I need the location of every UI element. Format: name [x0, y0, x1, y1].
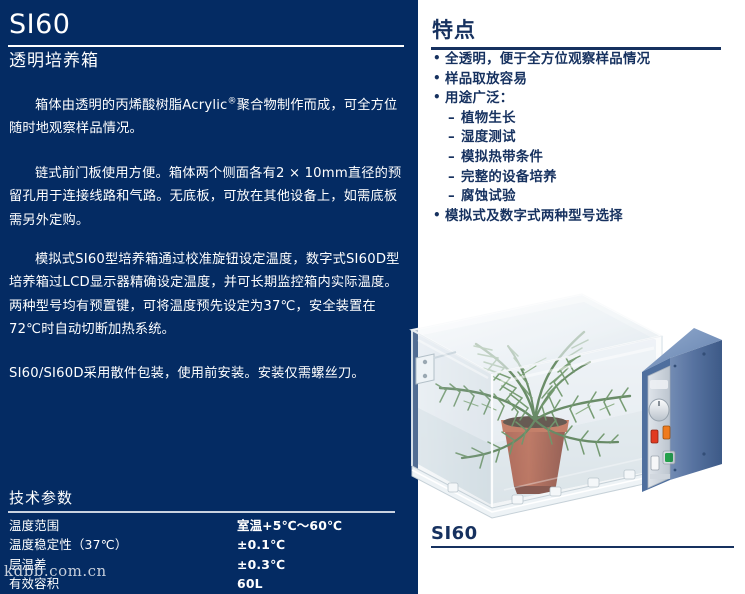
- list-item-label: 腐蚀试验: [461, 189, 516, 204]
- power-indicator-light: [663, 426, 670, 439]
- photo-caption: SI60: [431, 523, 478, 544]
- para1-lead: 箱体由透明的丙烯酸树脂Acrylic: [35, 98, 228, 113]
- product-photo-incubator: [404, 258, 740, 526]
- list-item: –完整的设备培养: [431, 168, 731, 188]
- list-item-label: 植物生长: [461, 111, 516, 126]
- product-title-rule: [8, 45, 404, 47]
- heat-indicator-light: [651, 430, 658, 443]
- description-paragraph-1: 箱体由透明的丙烯酸树脂Acrylic®聚合物制作而成，可全方位随时地观察样品情况…: [9, 94, 407, 141]
- spec-table: 温度范围 室温+5℃～60℃ 温度稳定性（37℃） ±0.1℃ 层温差 ±0.3…: [9, 516, 409, 594]
- spec-value: ±0.1℃: [237, 535, 409, 554]
- spec-value: 室温+5℃～60℃: [237, 516, 409, 535]
- spec-label: 有效容积: [9, 574, 237, 593]
- photo-caption-rule: [431, 546, 734, 548]
- power-rocker-switch[interactable]: [651, 456, 659, 470]
- list-item-label: 湿度测试: [461, 130, 516, 145]
- features-list: •全透明，便于全方位观察样品情况 •样品取放容易 •用途广泛： –植物生长 –湿…: [431, 50, 731, 226]
- spec-value: 60L: [237, 574, 409, 593]
- list-item: •全透明，便于全方位观察样品情况: [431, 50, 731, 70]
- product-title: SI60: [9, 10, 70, 40]
- page-root: SI60 透明培养箱 箱体由透明的丙烯酸树脂Acrylic®聚合物制作而成，可全…: [0, 0, 745, 594]
- list-item: –湿度测试: [431, 128, 731, 148]
- acrylic-chamber: [412, 294, 662, 518]
- list-item-label: 用途广泛：: [445, 91, 513, 106]
- list-item: •模拟式及数字式两种型号选择: [431, 207, 731, 227]
- bullet-icon: •: [433, 206, 441, 226]
- list-item: –模拟热带条件: [431, 148, 731, 168]
- brand-plate: [650, 380, 668, 389]
- list-item-label: 全透明，便于全方位观察样品情况: [445, 52, 650, 67]
- table-row: 有效容积 60L: [9, 574, 409, 593]
- description-paragraph-4: SI60/SI60D采用散件包装，使用前安装。安装仅需螺丝刀。: [9, 362, 407, 385]
- spec-label: 温度稳定性（37℃）: [9, 535, 237, 554]
- spec-label: 层温差: [9, 555, 237, 574]
- list-item: •样品取放容易: [431, 70, 731, 90]
- dash-icon: –: [448, 168, 455, 188]
- dash-icon: –: [448, 187, 455, 207]
- list-item-label: 模拟式及数字式两种型号选择: [445, 209, 623, 224]
- features-title: 特点: [432, 14, 476, 44]
- spec-title-rule: [8, 511, 395, 513]
- spec-label: 温度范围: [9, 516, 237, 535]
- temperature-knob[interactable]: [649, 399, 669, 421]
- spec-value: ±0.3℃: [237, 555, 409, 574]
- table-row: 层温差 ±0.3℃: [9, 555, 409, 574]
- list-item: –植物生长: [431, 109, 731, 129]
- list-item-label: 模拟热带条件: [461, 150, 543, 165]
- bullet-icon: •: [433, 69, 441, 89]
- model-label-strip: [650, 474, 670, 479]
- description-paragraph-2: 链式前门板使用方便。箱体两个侧面各有2 × 10mm直径的预留孔用于连接线路和气…: [9, 162, 407, 232]
- dash-icon: –: [448, 109, 455, 129]
- spec-table-body: 温度范围 室温+5℃～60℃ 温度稳定性（37℃） ±0.1℃ 层温差 ±0.3…: [9, 516, 409, 594]
- table-row: 温度范围 室温+5℃～60℃: [9, 516, 409, 535]
- list-item-label: 样品取放容易: [445, 72, 527, 87]
- dash-icon: –: [448, 128, 455, 148]
- spec-section-title: 技术参数: [9, 487, 73, 508]
- registered-mark: ®: [228, 97, 237, 107]
- bullet-icon: •: [433, 88, 441, 108]
- description-paragraph-3: 模拟式SI60型培养箱通过校准旋钮设定温度，数字式SI60D型培养箱过LCD显示…: [9, 248, 407, 342]
- bullet-icon: •: [433, 49, 441, 69]
- list-item: –腐蚀试验: [431, 187, 731, 207]
- dash-icon: –: [448, 148, 455, 168]
- product-subtitle: 透明培养箱: [9, 49, 99, 73]
- list-item-label: 完整的设备培养: [461, 170, 557, 185]
- table-row: 温度稳定性（37℃） ±0.1℃: [9, 535, 409, 554]
- list-item: •用途广泛：: [431, 89, 731, 109]
